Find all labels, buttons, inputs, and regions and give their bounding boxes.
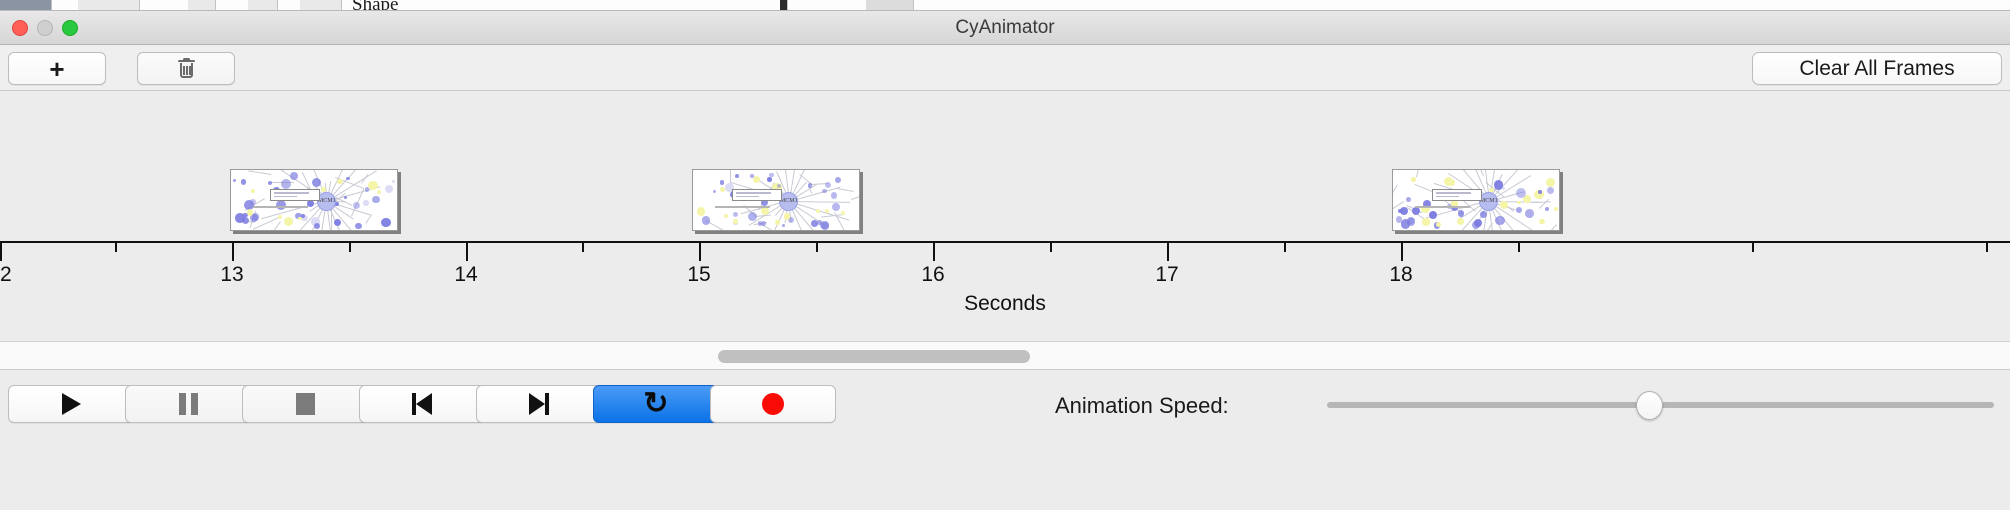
axis-tick-major bbox=[699, 243, 701, 261]
network-node bbox=[392, 180, 396, 184]
network-node bbox=[247, 209, 253, 215]
network-node bbox=[1494, 180, 1504, 190]
axis-tick-minor bbox=[115, 243, 117, 252]
network-edge bbox=[366, 216, 372, 224]
network-edge bbox=[1540, 224, 1557, 231]
network-node bbox=[268, 181, 272, 185]
skip-next-icon bbox=[529, 393, 549, 415]
network-caption bbox=[1415, 206, 1470, 208]
axis-tick-major bbox=[933, 243, 935, 261]
network-node bbox=[784, 213, 790, 219]
network-node bbox=[831, 192, 838, 199]
axis-tick-label: 12 bbox=[0, 263, 40, 287]
axis-tick-major bbox=[1401, 243, 1403, 261]
axis-tick-label: 16 bbox=[893, 263, 973, 287]
frame-thumbnail-1[interactable]: MCM1 bbox=[230, 169, 398, 231]
network-edge bbox=[1532, 201, 1551, 203]
network-node bbox=[385, 185, 393, 193]
axis-tick-minor bbox=[1986, 243, 1988, 252]
network-hub-node: MCM1 bbox=[1479, 192, 1498, 211]
network-node bbox=[235, 213, 245, 223]
network-node bbox=[782, 224, 786, 228]
network-node bbox=[314, 223, 320, 229]
network-node bbox=[816, 209, 820, 213]
network-edge bbox=[266, 221, 281, 231]
record-icon bbox=[762, 393, 784, 415]
clear-all-frames-label: Clear All Frames bbox=[1799, 57, 1954, 81]
network-node bbox=[702, 216, 711, 225]
delete-frame-button[interactable] bbox=[137, 52, 235, 85]
network-node bbox=[825, 182, 831, 188]
axis-tick-major bbox=[1167, 243, 1169, 261]
network-node bbox=[276, 200, 286, 210]
toolbar: + Clear All Frames bbox=[0, 45, 2010, 91]
network-node bbox=[1436, 222, 1442, 228]
axis-tick-minor bbox=[1518, 243, 1520, 252]
network-thumbnail: MCM1 bbox=[1393, 170, 1559, 230]
axis-title: Seconds bbox=[0, 292, 2010, 316]
clear-all-frames-button[interactable]: Clear All Frames bbox=[1752, 52, 2002, 85]
network-node bbox=[733, 212, 738, 217]
network-node bbox=[1525, 209, 1534, 218]
skip-previous-icon bbox=[412, 393, 432, 415]
axis-tick-minor bbox=[1050, 243, 1052, 252]
stop-button bbox=[242, 385, 368, 423]
network-node bbox=[767, 177, 771, 181]
network-node bbox=[1448, 179, 1455, 186]
network-node bbox=[281, 179, 291, 189]
bg-tab-6 bbox=[780, 0, 788, 11]
network-node bbox=[1545, 207, 1549, 211]
bg-tab-3 bbox=[188, 0, 216, 11]
axis-tick-major bbox=[466, 243, 468, 261]
network-node bbox=[233, 179, 236, 182]
bg-tab-5 bbox=[300, 0, 342, 11]
network-node bbox=[1472, 221, 1480, 229]
network-node bbox=[1422, 218, 1430, 226]
network-annotation-box bbox=[1432, 189, 1482, 201]
network-edge bbox=[1478, 169, 1483, 176]
network-node bbox=[241, 179, 246, 184]
network-node bbox=[735, 174, 739, 178]
axis-tick-label: 15 bbox=[659, 263, 739, 287]
network-node bbox=[1554, 207, 1558, 211]
play-icon bbox=[62, 393, 81, 415]
scrollbar-thumb[interactable] bbox=[718, 350, 1030, 363]
network-node bbox=[753, 176, 760, 183]
network-node bbox=[841, 211, 845, 215]
network-node bbox=[775, 220, 780, 225]
axis-tick-label: 17 bbox=[1127, 263, 1207, 287]
timeline-panel[interactable]: MCM1MCM1MCM1 12131415161718 Seconds bbox=[0, 91, 2010, 342]
timeline-axis bbox=[0, 241, 2010, 243]
network-node bbox=[817, 220, 822, 225]
network-node bbox=[368, 181, 377, 190]
bg-tab-7 bbox=[866, 0, 914, 11]
network-node bbox=[713, 190, 716, 193]
network-node bbox=[344, 196, 348, 200]
animation-speed-slider-thumb[interactable] bbox=[1636, 391, 1663, 420]
network-hub-node: MCM1 bbox=[317, 192, 336, 211]
previous-frame-button[interactable] bbox=[359, 385, 485, 423]
network-node bbox=[777, 184, 781, 188]
network-node bbox=[334, 219, 341, 226]
network-node bbox=[808, 183, 813, 188]
stop-icon bbox=[296, 393, 315, 415]
loop-button[interactable]: ↻ bbox=[593, 385, 719, 423]
network-node bbox=[1539, 219, 1545, 225]
network-node bbox=[1516, 188, 1526, 198]
network-annotation-box bbox=[732, 189, 782, 201]
network-node bbox=[1457, 218, 1464, 225]
network-node bbox=[377, 190, 381, 194]
network-node bbox=[381, 218, 390, 227]
network-node bbox=[697, 207, 705, 215]
trash-icon bbox=[178, 58, 195, 79]
axis-tick-label: 13 bbox=[192, 263, 272, 287]
cyanimator-window: Shape CyAnimator + Clear All Frames bbox=[0, 0, 2010, 510]
network-caption bbox=[253, 206, 308, 208]
network-node bbox=[733, 219, 738, 224]
network-thumbnail: MCM1 bbox=[231, 170, 397, 230]
axis-tick-minor bbox=[816, 243, 818, 252]
record-button[interactable] bbox=[710, 385, 836, 423]
network-node bbox=[278, 215, 282, 219]
network-node bbox=[372, 196, 379, 203]
network-edge bbox=[851, 196, 860, 200]
network-node bbox=[1546, 178, 1555, 187]
network-node bbox=[1516, 207, 1522, 213]
bg-tab-4 bbox=[248, 0, 278, 11]
window-title: CyAnimator bbox=[0, 11, 2010, 45]
axis-tick-minor bbox=[349, 243, 351, 252]
network-node bbox=[312, 178, 321, 187]
plus-icon: + bbox=[49, 56, 64, 82]
network-caption bbox=[715, 206, 770, 208]
animation-speed-label: Animation Speed: bbox=[1055, 393, 1229, 419]
play-button[interactable] bbox=[8, 385, 134, 423]
frame-thumbnail-2[interactable]: MCM1 bbox=[692, 169, 860, 231]
pause-button bbox=[125, 385, 251, 423]
background-window-label: Shape bbox=[352, 0, 398, 11]
network-edge bbox=[837, 188, 854, 192]
bg-tab-1 bbox=[0, 0, 52, 11]
network-node bbox=[346, 177, 349, 180]
network-node bbox=[363, 200, 369, 206]
axis-tick-minor bbox=[582, 243, 584, 252]
pause-icon bbox=[179, 393, 198, 415]
bg-tab-2 bbox=[78, 0, 140, 11]
title-bar: CyAnimator bbox=[0, 11, 2010, 45]
network-hub-node: MCM1 bbox=[779, 192, 798, 211]
network-node bbox=[758, 221, 762, 225]
axis-tick-major bbox=[0, 243, 2, 261]
network-node bbox=[353, 202, 360, 209]
network-node bbox=[307, 200, 314, 207]
network-node bbox=[724, 214, 728, 218]
network-annotation-box bbox=[270, 189, 320, 201]
network-edge bbox=[248, 171, 271, 176]
axis-tick-minor bbox=[1284, 243, 1286, 252]
network-node bbox=[284, 217, 293, 226]
network-node bbox=[1538, 190, 1542, 194]
network-node bbox=[337, 179, 342, 184]
network-node bbox=[1401, 219, 1411, 229]
network-node bbox=[250, 199, 256, 205]
network-node bbox=[1406, 197, 1411, 202]
axis-tick-label: 18 bbox=[1361, 263, 1441, 287]
background-window-strip: Shape bbox=[0, 0, 2010, 11]
network-node bbox=[251, 189, 254, 192]
network-node bbox=[720, 180, 724, 184]
network-thumbnail: MCM1 bbox=[693, 170, 859, 230]
network-node bbox=[832, 203, 840, 211]
axis-tick-minor bbox=[1752, 243, 1754, 252]
network-node bbox=[1500, 201, 1508, 209]
network-node bbox=[822, 189, 826, 193]
network-node bbox=[1411, 177, 1415, 181]
network-node bbox=[835, 177, 841, 183]
network-node bbox=[761, 207, 769, 215]
add-frame-button[interactable]: + bbox=[8, 52, 106, 85]
network-edge bbox=[1416, 169, 1422, 177]
network-node bbox=[1495, 216, 1505, 226]
network-node bbox=[720, 187, 725, 192]
frame-thumbnail-3[interactable]: MCM1 bbox=[1392, 169, 1560, 231]
network-node bbox=[1429, 211, 1437, 219]
horizontal-scrollbar[interactable] bbox=[0, 342, 2010, 370]
axis-tick-label: 14 bbox=[426, 263, 506, 287]
network-node bbox=[355, 223, 362, 230]
network-node bbox=[1517, 201, 1521, 205]
network-node bbox=[1547, 187, 1554, 194]
loop-icon: ↻ bbox=[643, 389, 668, 419]
axis-tick-major bbox=[232, 243, 234, 261]
transport-bar: ↻ Animation Speed: bbox=[0, 371, 2010, 510]
next-frame-button[interactable] bbox=[476, 385, 602, 423]
